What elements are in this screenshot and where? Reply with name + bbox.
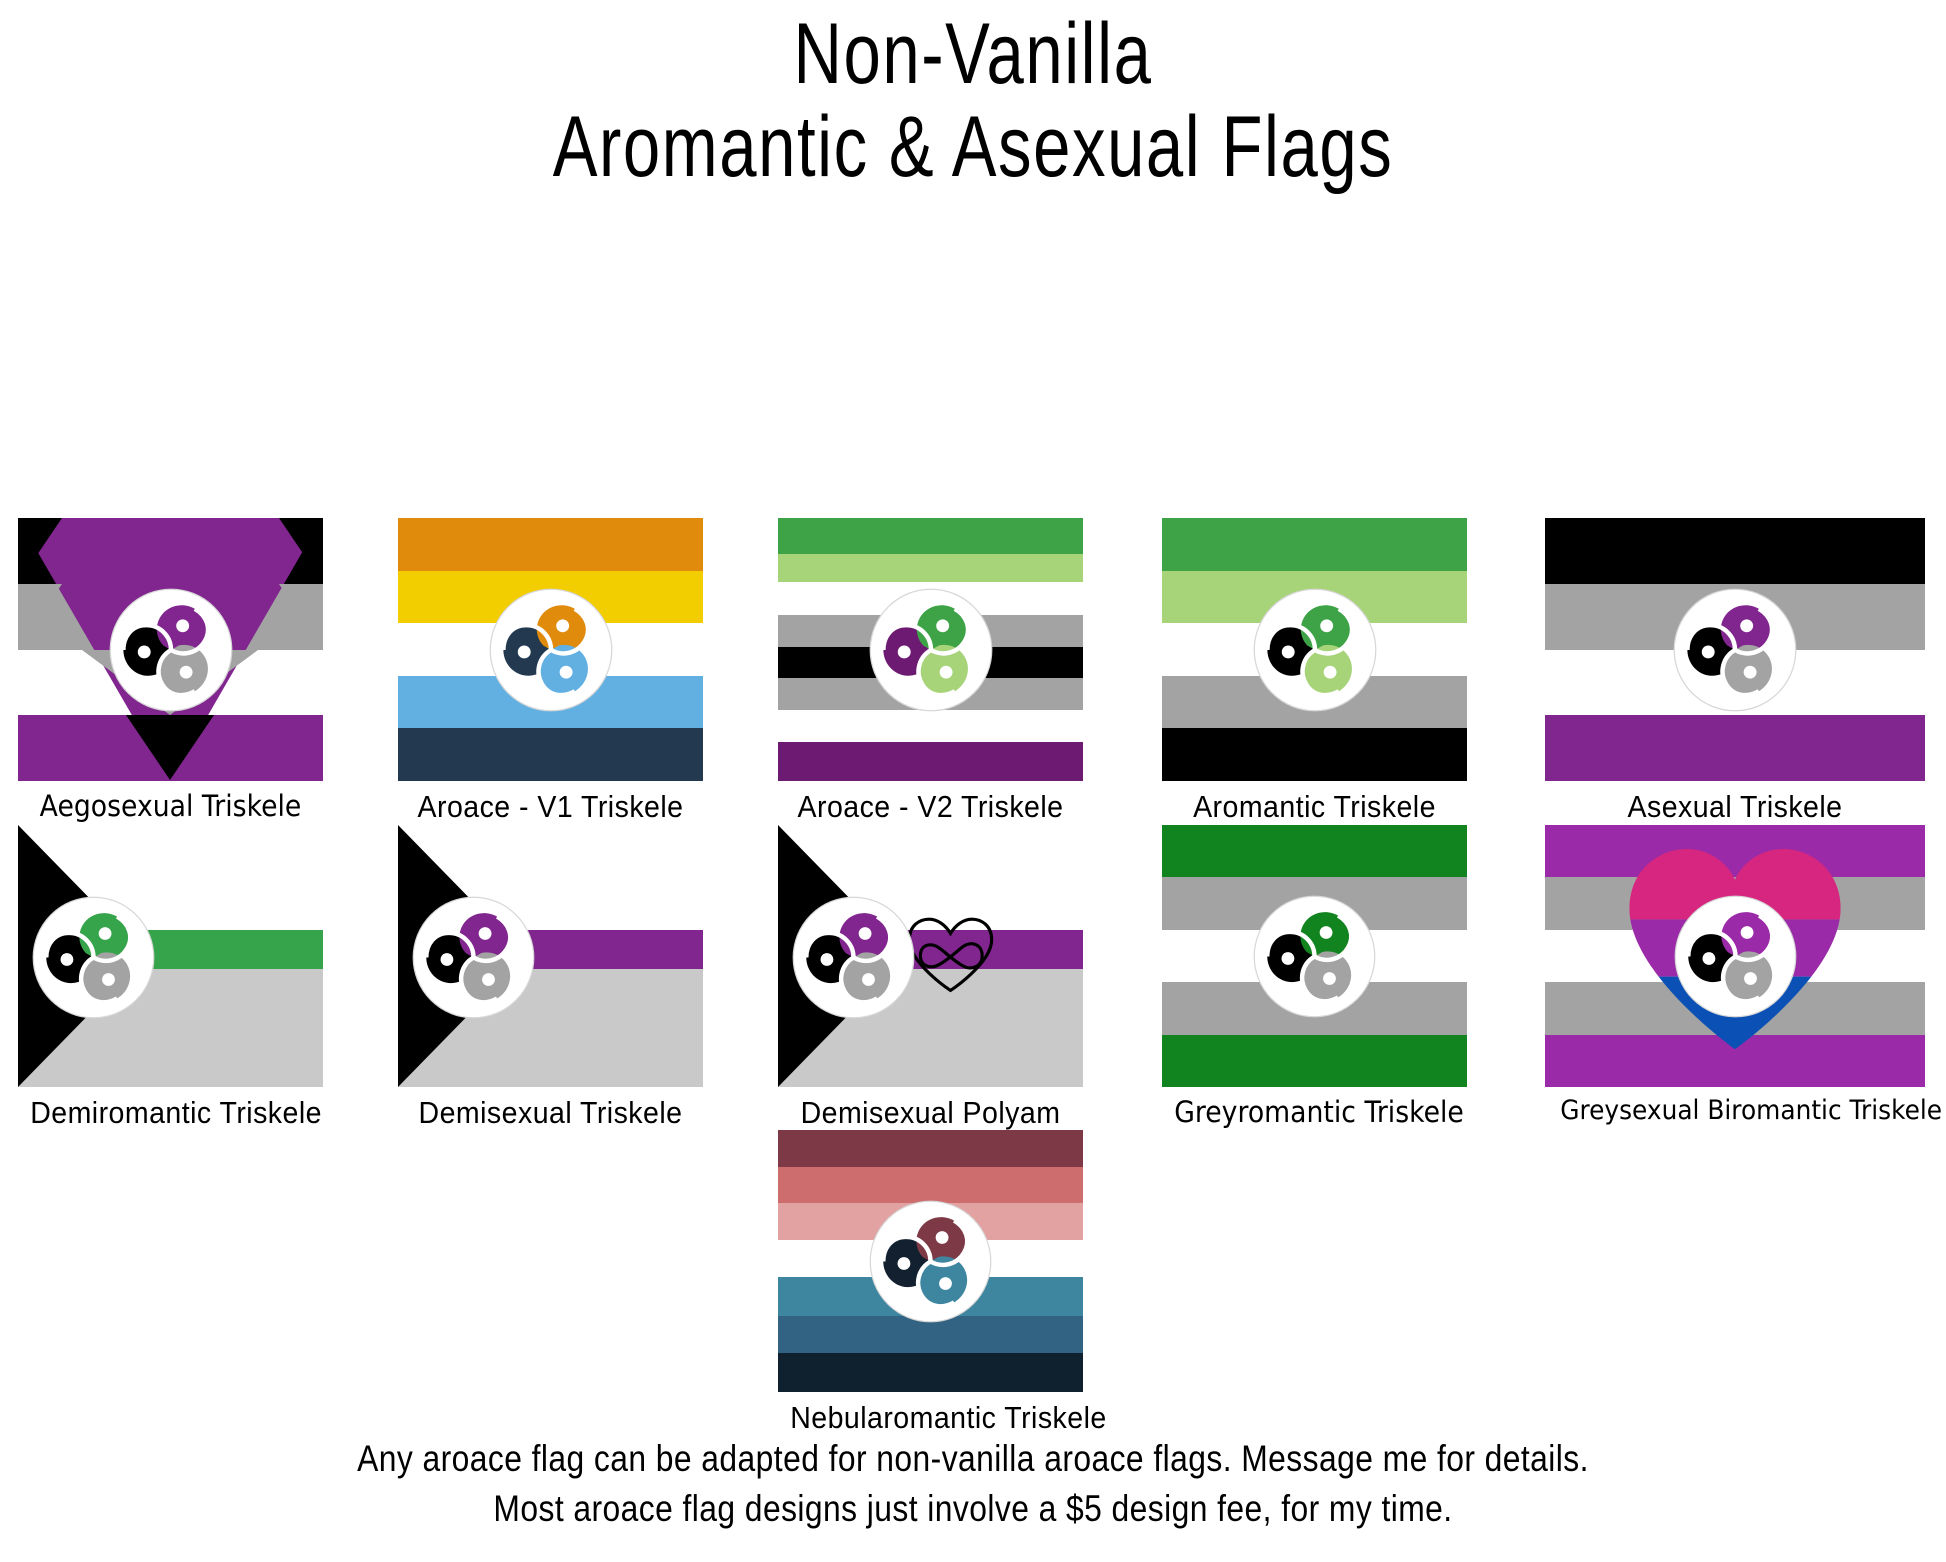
triangle-tip <box>126 715 214 780</box>
flag-demisexual-polyam[interactable] <box>778 825 1083 1087</box>
triskele-icon <box>489 588 613 712</box>
flag-stripe <box>778 1130 1083 1167</box>
triangle-corner-left-grey <box>18 584 62 649</box>
triskele-icon <box>1673 588 1797 712</box>
flag-stripe <box>1162 518 1467 571</box>
triskele-icon <box>869 588 993 712</box>
flag-cell-aroace-v2[interactable]: Aroace - V2 Triskele <box>778 518 1083 781</box>
triskele-emblem <box>1674 895 1797 1018</box>
triskele-emblem <box>1673 588 1797 712</box>
triskele-icon <box>1253 895 1376 1018</box>
triskele-emblem <box>869 588 993 712</box>
flag-stripe <box>778 1167 1083 1204</box>
flag-greyromantic[interactable] <box>1162 825 1467 1087</box>
flag-caption-aroace-v2: Aroace - V2 Triskele <box>790 789 1071 825</box>
flag-aroace-v2[interactable] <box>778 518 1083 781</box>
flag-demisexual[interactable] <box>398 825 703 1087</box>
infinity-heart-icon <box>903 911 998 997</box>
flag-stripe <box>778 518 1083 554</box>
triskele-emblem <box>792 896 915 1019</box>
triangle-corner-left <box>18 518 62 583</box>
flag-cell-nebularomantic[interactable]: Nebularomantic Triskele <box>778 1130 1083 1392</box>
flag-stripe <box>778 1353 1083 1392</box>
flag-cell-greyromantic[interactable]: Greyromantic Triskele <box>1162 825 1467 1087</box>
flag-caption-nebularomantic: Nebularomantic Triskele <box>790 1400 1071 1436</box>
flag-caption-aegosexual: Aegosexual Triskele <box>30 789 311 823</box>
flag-cell-aegosexual[interactable]: Aegosexual Triskele <box>18 518 323 781</box>
flag-stripe <box>398 518 703 571</box>
flag-caption-greyromantic: Greyromantic Triskele <box>1174 1095 1455 1129</box>
flag-stripe <box>1162 728 1467 781</box>
flag-aromantic[interactable] <box>1162 518 1467 781</box>
flag-caption-demisexual: Demisexual Triskele <box>410 1095 691 1131</box>
flag-stripe <box>398 728 703 781</box>
flag-caption-demisexual-polyam: Demisexual Polyam <box>790 1095 1071 1131</box>
flag-cell-demisexual-polyam[interactable]: Demisexual Polyam <box>778 825 1083 1087</box>
triskele-emblem <box>32 896 155 1019</box>
footer-note: Any aroace flag can be adapted for non-v… <box>0 1434 1946 1534</box>
triskele-icon <box>32 896 155 1019</box>
polyam-infinity-heart <box>903 911 998 1002</box>
triskele-icon <box>869 1200 992 1323</box>
flag-stripe <box>778 710 1083 742</box>
flag-cell-aroace-v1[interactable]: Aroace - V1 Triskele <box>398 518 703 781</box>
triskele-emblem <box>1253 588 1377 712</box>
flag-stripe <box>1162 1035 1467 1087</box>
flag-cell-aromantic[interactable]: Aromantic Triskele <box>1162 518 1467 781</box>
triskele-emblem <box>412 896 535 1019</box>
triangle-corner-right <box>279 518 323 583</box>
flag-caption-demiromantic: Demiromantic Triskele <box>30 1095 311 1131</box>
flag-caption-asexual: Asexual Triskele <box>1560 789 1910 825</box>
triskele-emblem <box>109 588 233 712</box>
poster-root: Non-Vanilla Aromantic & Asexual Flags Ae… <box>0 0 1946 1562</box>
flag-caption-greysexual-biromantic: Greysexual Biromantic Triskele <box>1560 1095 1910 1126</box>
flag-stripe <box>1545 518 1925 585</box>
flag-stripe <box>778 554 1083 584</box>
flag-stripe <box>1162 825 1467 878</box>
flag-cell-greysexual-biromantic[interactable]: Greysexual Biromantic Triskele <box>1545 825 1925 1087</box>
flag-cell-demiromantic[interactable]: Demiromantic Triskele <box>18 825 323 1087</box>
flag-caption-aroace-v1: Aroace - V1 Triskele <box>410 789 691 825</box>
flag-caption-aromantic: Aromantic Triskele <box>1174 789 1455 825</box>
flag-aegosexual[interactable] <box>18 518 323 781</box>
flag-greysexual-biromantic[interactable] <box>1545 825 1925 1087</box>
flag-stripe <box>778 742 1083 781</box>
flag-asexual[interactable] <box>1545 518 1925 781</box>
flag-grid: Aegosexual TriskeleAroace - V1 TriskeleA… <box>0 0 1946 1562</box>
triskele-emblem <box>869 1200 992 1323</box>
triangle-corner-right-grey <box>279 584 323 649</box>
flag-cell-asexual[interactable]: Asexual Triskele <box>1545 518 1925 781</box>
flag-demiromantic[interactable] <box>18 825 323 1087</box>
flag-aroace-v1[interactable] <box>398 518 703 781</box>
flag-cell-demisexual[interactable]: Demisexual Triskele <box>398 825 703 1087</box>
triskele-icon <box>792 896 915 1019</box>
triskele-emblem <box>489 588 613 712</box>
triskele-icon <box>1253 588 1377 712</box>
triskele-icon <box>412 896 535 1019</box>
footer-line-1: Any aroace flag can be adapted for non-v… <box>136 1434 1810 1484</box>
triskele-icon <box>109 588 233 712</box>
flag-stripe <box>1545 715 1925 781</box>
flag-nebularomantic[interactable] <box>778 1130 1083 1392</box>
footer-line-2: Most aroace flag designs just involve a … <box>136 1484 1810 1534</box>
triskele-emblem <box>1253 895 1376 1018</box>
triskele-icon <box>1674 895 1797 1018</box>
